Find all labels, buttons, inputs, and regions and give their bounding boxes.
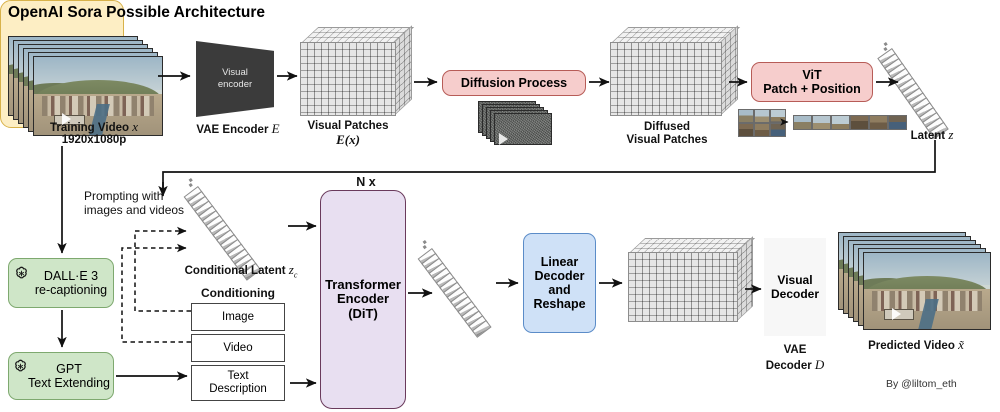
conditioning-item-text-description[interactable]: Text Description <box>191 365 285 401</box>
conditional-latent-caption: Conditional Latent zc <box>158 263 324 281</box>
linear-decoder-line3: and <box>548 283 570 297</box>
conditioning-item-image[interactable]: Image <box>191 303 285 331</box>
diagram-canvas: OpenAI Sora Possible Architecture <box>0 0 1000 412</box>
transformer-label-line3: (DiT) <box>348 307 378 322</box>
predicted-video-front-frame <box>863 252 991 330</box>
conditioning-title: Conditioning <box>177 287 299 300</box>
openai-logo-icon <box>12 358 29 375</box>
transformer-repeat-label: N x <box>318 176 414 189</box>
transformer-label-line1: Transformer <box>325 278 401 293</box>
play-icon <box>499 133 508 145</box>
vae-encoder-caption: VAE Encoder E <box>186 122 290 137</box>
vit-label-line2: Patch + Position <box>763 82 861 96</box>
dalle3-label-line2: re-captioning <box>35 283 107 297</box>
gpt-label-line2: Text Extending <box>28 376 110 390</box>
diffused-patches-caption-1: Diffused <box>598 121 736 134</box>
linear-decoder-line4: Reshape <box>533 297 585 311</box>
output-latent-strip <box>420 236 520 346</box>
play-icon <box>892 308 901 320</box>
visual-patches-math: E(x) <box>286 133 410 148</box>
vit-label-line1: ViT <box>802 68 821 82</box>
openai-logo-icon <box>13 265 30 282</box>
page-title: OpenAI Sora Possible Architecture <box>8 4 265 22</box>
line-latent-feedback <box>163 140 935 188</box>
diffusion-process-box[interactable]: Diffusion Process <box>442 70 586 96</box>
byline: By @liltom_eth <box>886 378 957 390</box>
linear-decoder-line1: Linear <box>541 255 579 269</box>
linear-decoder-box[interactable]: Linear Decoder and Reshape <box>523 233 596 333</box>
predicted-video-caption: Predicted Video x̃ <box>836 338 996 353</box>
gpt-label-line1: GPT <box>56 362 82 376</box>
vae-encoder-shape: Visual encoder <box>196 41 274 117</box>
diffused-patches-caption-2: Visual Patches <box>598 134 736 147</box>
vae-decoder-shape: Visual Decoder <box>764 238 826 336</box>
vit-box[interactable]: ViT Patch + Position <box>751 62 873 102</box>
transformer-label-line2: Encoder <box>337 292 389 307</box>
latent-caption: Latent z <box>884 128 980 143</box>
text-description-line2: Description <box>209 383 267 396</box>
dalle3-label-line1: DALL·E 3 <box>44 269 98 283</box>
conditioning-item-video[interactable]: Video <box>191 334 285 362</box>
latent-strip <box>884 40 954 138</box>
training-video-resolution: 1920x1080p <box>6 134 182 147</box>
transformer-encoder-box[interactable]: Transformer Encoder (DiT) <box>320 190 406 409</box>
text-description-line1: Text <box>227 370 248 383</box>
training-video-caption: Training Video x <box>6 120 182 135</box>
vae-decoder-caption-1: VAE <box>752 344 838 357</box>
linear-decoder-line2: Decoder <box>534 269 584 283</box>
vae-decoder-caption-2: Decoder D <box>746 358 844 373</box>
